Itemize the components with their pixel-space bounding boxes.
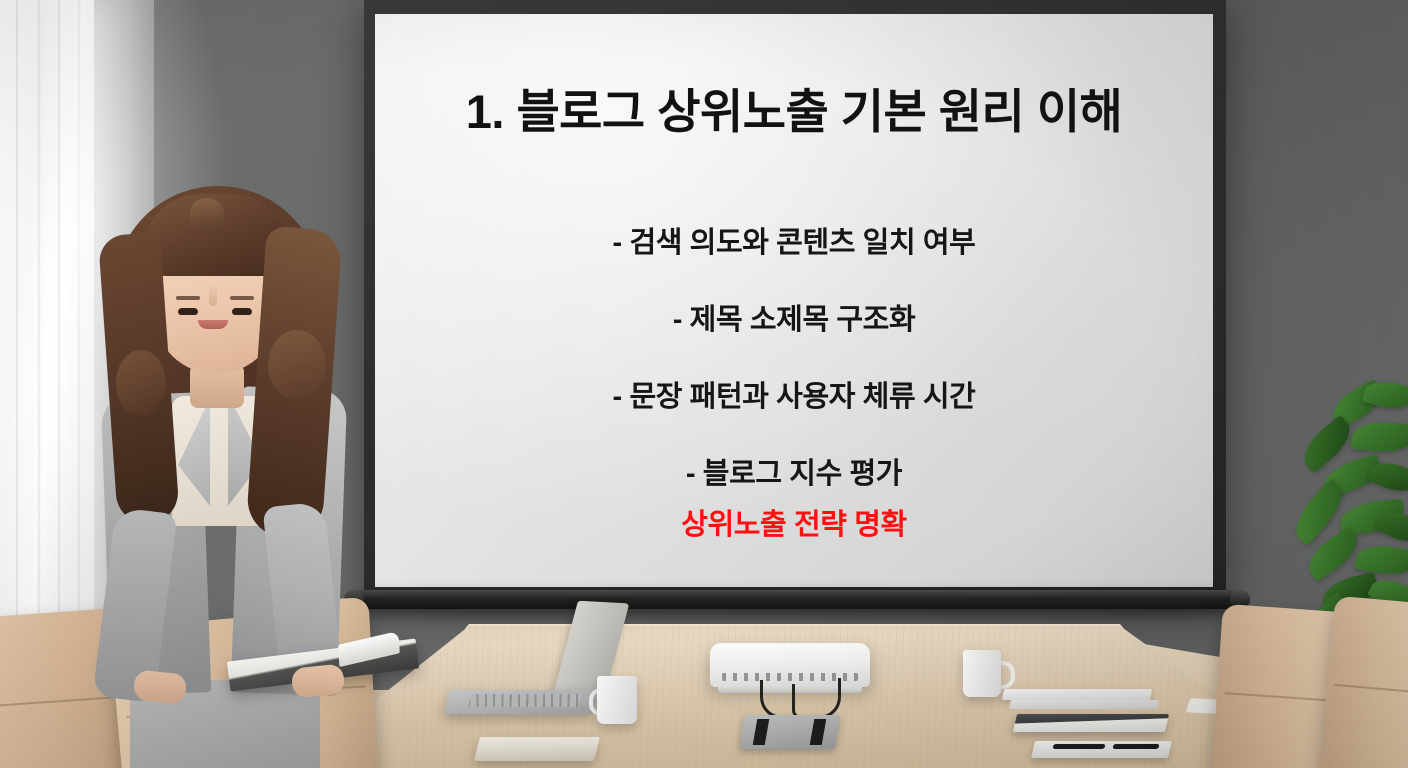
- slide-bullet-item: - 검색 의도와 콘텐츠 일치 여부: [375, 219, 1213, 261]
- presentation-scene: 1. 블로그 상위노출 기본 원리 이해 - 검색 의도와 콘텐츠 일치 여부 …: [0, 0, 1408, 768]
- presenter-hand-right: [291, 663, 346, 698]
- pen: [1052, 744, 1105, 749]
- notebook-middle: [1009, 700, 1159, 709]
- book-on-table: [474, 737, 600, 761]
- slide-bullet-item: - 제목 소제목 구조화: [375, 296, 1213, 338]
- slide-title: 1. 블로그 상위노출 기본 원리 이해: [375, 86, 1213, 138]
- slide-bullet-item: - 블로그 지수 평가: [375, 450, 1213, 492]
- presenter-hair-part: [190, 198, 224, 228]
- slide-content: 1. 블로그 상위노출 기본 원리 이해 - 검색 의도와 콘텐츠 일치 여부 …: [375, 14, 1213, 587]
- slide-bullet-list: - 검색 의도와 콘텐츠 일치 여부 - 제목 소제목 구조화 - 문장 패턴과…: [375, 219, 1213, 527]
- pen: [1112, 744, 1159, 749]
- slide-bullet-item: - 문장 패턴과 사용자 체류 시간: [375, 373, 1213, 415]
- screen-roller-bar: [352, 590, 1238, 609]
- presenter-figure: [86, 180, 376, 768]
- laptop-keyboard[interactable]: [468, 694, 582, 707]
- coffee-mug-left: [597, 676, 637, 724]
- slide-highlight-text: 상위노출 전략 명확: [375, 501, 1213, 543]
- presenter-hand-left: [133, 669, 188, 704]
- notebook-top: [1002, 689, 1153, 700]
- presenter-mouth: [198, 320, 228, 329]
- notebook-dark: [1013, 714, 1169, 732]
- projector-cable: [792, 684, 801, 719]
- coffee-mug-right: [963, 650, 1001, 697]
- presenter-nose: [209, 284, 217, 306]
- window-curtain: [0, 0, 94, 700]
